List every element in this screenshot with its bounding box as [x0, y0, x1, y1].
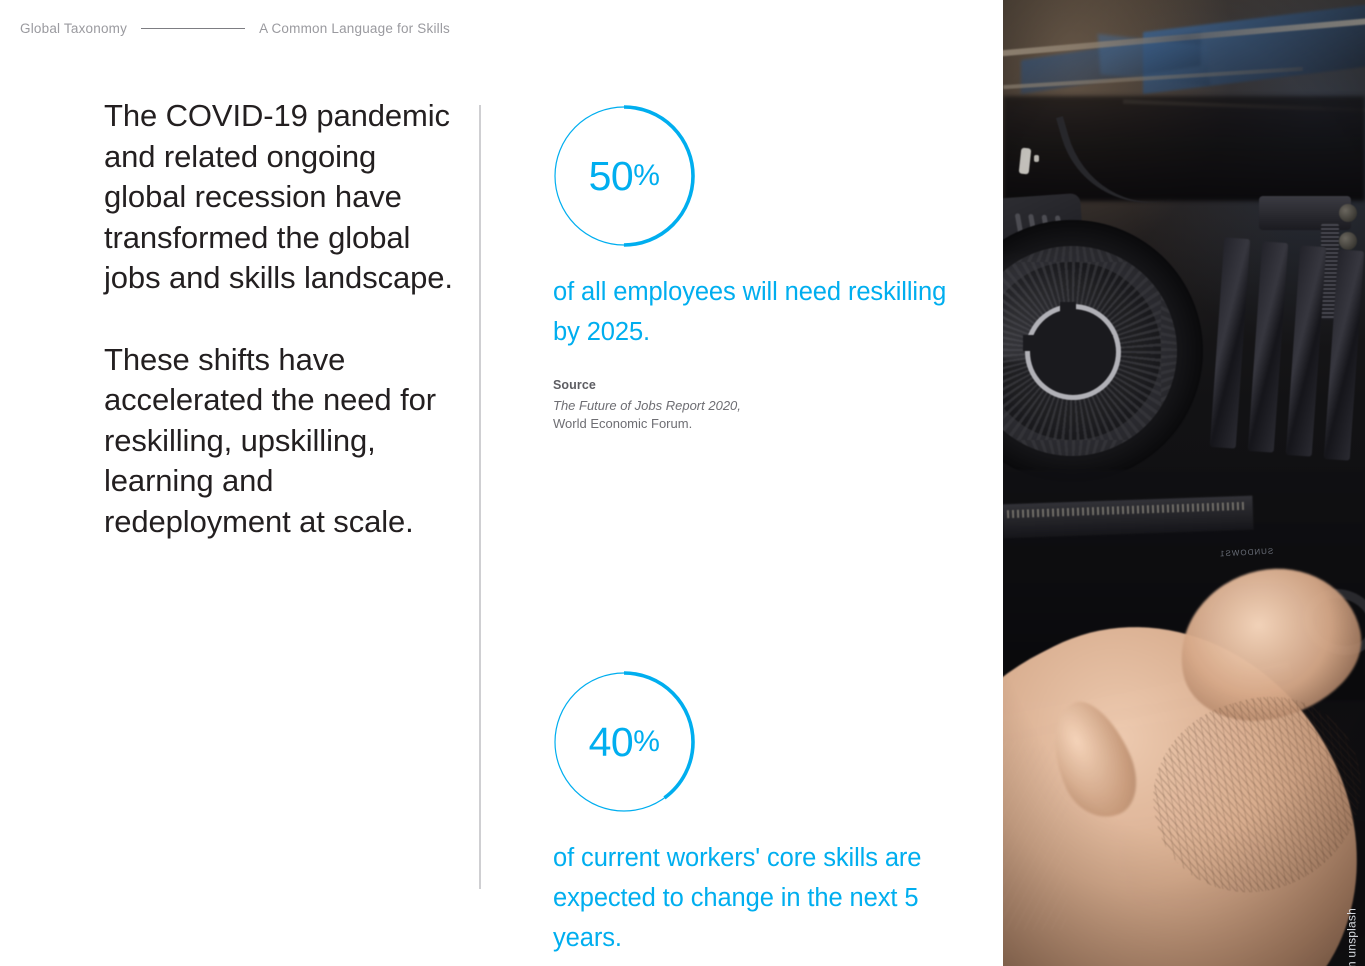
- stat-caption-core-skills: of current workers' core skills are expe…: [553, 838, 973, 958]
- donut-chart-50: 50%: [553, 105, 695, 247]
- header-rule-divider: [141, 28, 245, 29]
- fan-hub-logo: [1025, 304, 1121, 400]
- donut-chart-40: 40%: [553, 671, 695, 813]
- intro-paragraph-2: These shifts have accelerated the need f…: [104, 340, 454, 543]
- source-organization-1: World Economic Forum.: [553, 415, 983, 433]
- stat-caption-reskilling: of all employees will need reskilling by…: [553, 272, 973, 352]
- capacitor-2: [1339, 232, 1357, 250]
- page-header: Global Taxonomy A Common Language for Sk…: [0, 0, 1003, 56]
- donut-unit-50: %: [633, 161, 659, 191]
- source-block-1: Source The Future of Jobs Report 2020, W…: [553, 378, 983, 433]
- donut-value-50: 50: [589, 156, 634, 197]
- source-title-1: Source: [553, 378, 983, 392]
- computer-interior-photo: SUNDOWS1 © jeshoots-com unsplash: [1003, 0, 1365, 966]
- stat-block-reskilling: 50% of all employees will need reskillin…: [553, 105, 983, 433]
- intro-text-column: The COVID-19 pandemic and related ongoin…: [104, 96, 454, 542]
- slide-page: Global Taxonomy A Common Language for Sk…: [0, 0, 1365, 966]
- source-reference-1: The Future of Jobs Report 2020,: [553, 397, 983, 415]
- donut-value-40: 40: [589, 722, 634, 763]
- stat-block-core-skills: 40% of current workers' core skills are …: [553, 671, 983, 966]
- highlight-speck-2: [1034, 155, 1039, 162]
- header-left-label: Global Taxonomy: [20, 21, 127, 36]
- capacitor-1: [1339, 204, 1357, 222]
- photo-credit: © jeshoots-com unsplash: [1345, 908, 1359, 966]
- photo-scene: SUNDOWS1: [1003, 0, 1365, 966]
- header-right-label: A Common Language for Skills: [259, 21, 450, 36]
- donut-label-50: 50%: [553, 105, 695, 247]
- column-divider: [479, 105, 481, 889]
- donut-unit-40: %: [633, 727, 659, 757]
- intro-paragraph-1: The COVID-19 pandemic and related ongoin…: [104, 96, 454, 299]
- statistics-column: 50% of all employees will need reskillin…: [553, 105, 983, 966]
- donut-label-40: 40%: [553, 671, 695, 813]
